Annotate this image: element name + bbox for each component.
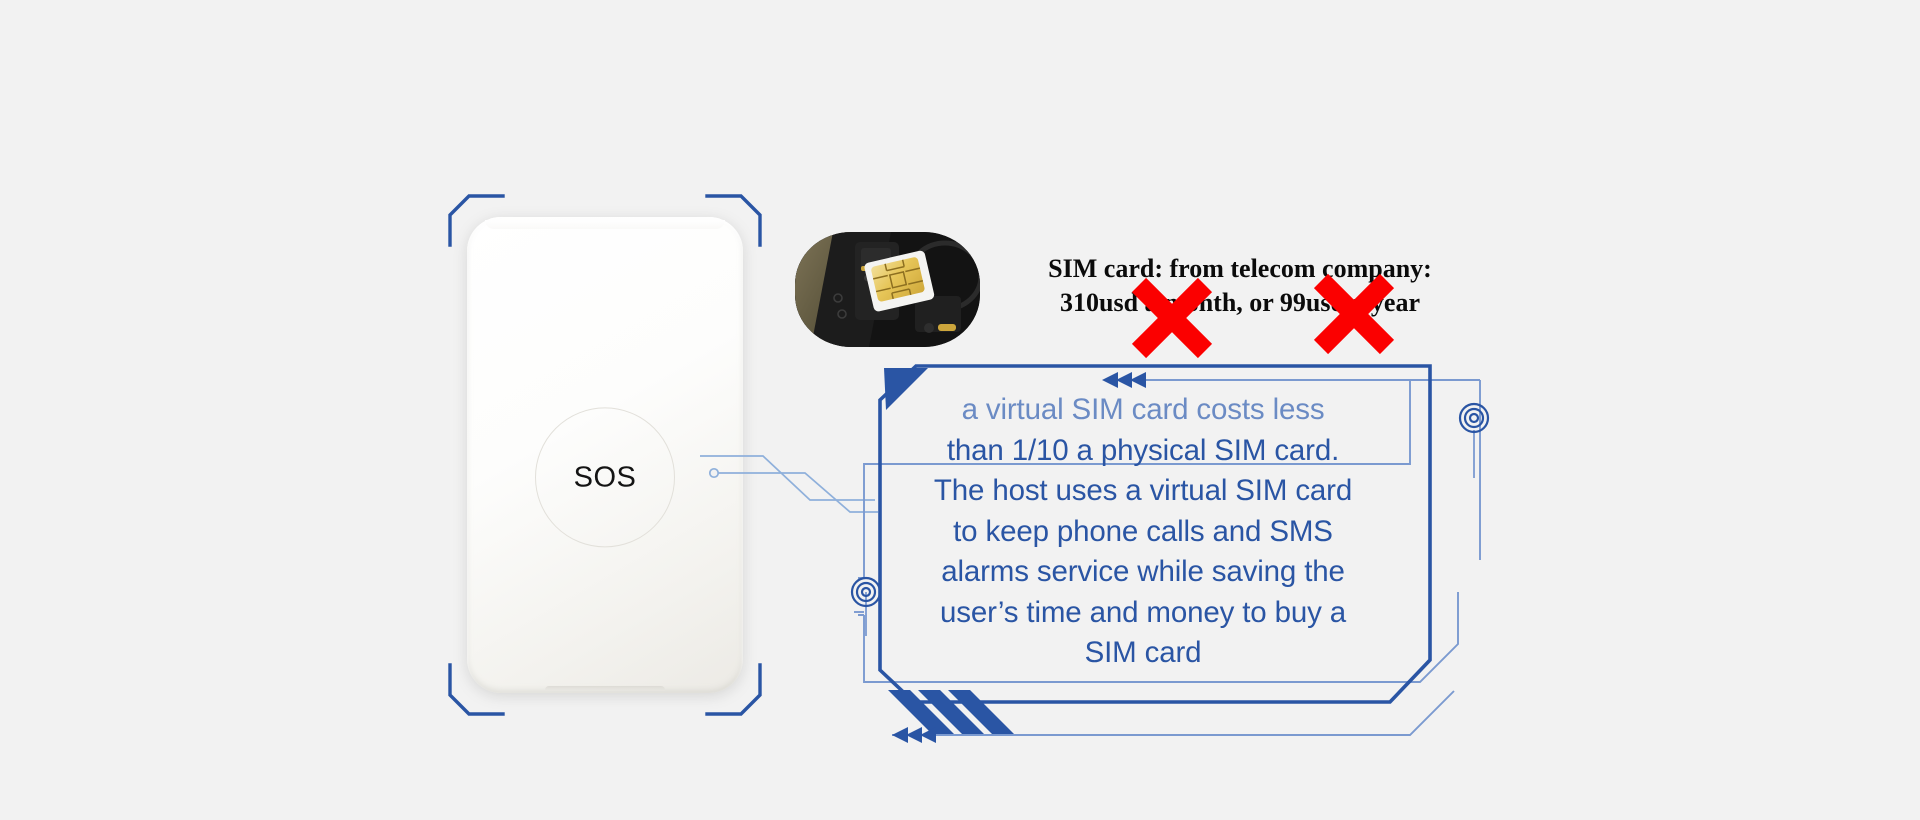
quote-paragraph: a virtual SIM card costs less than 1/10 … [878,390,1408,674]
diagonal-stripes-decor [888,690,1014,734]
headline-line-2: 310usd a month, or 99usd a year [1000,286,1480,320]
slide-canvas: SOS [0,0,1920,820]
arrow-top-right-icon [1102,372,1410,388]
quote-line-3: The host uses a virtual SIM card [878,471,1408,512]
sos-button-label: SOS [574,461,637,494]
headline-line-1: SIM card: from telecom company: [1000,252,1480,286]
corner-bracket-top-left-icon [447,193,507,249]
device-bottom-notch [545,686,665,691]
quote-line-5: alarms service while saving the [878,552,1408,593]
red-cross-out-icon-2 [1310,270,1398,358]
corner-bracket-bottom-right-icon [703,661,763,717]
corner-bracket-bottom-left-icon [447,661,507,717]
sos-button-ring[interactable]: SOS [535,407,675,547]
quote-line-1: a virtual SIM card costs less [878,390,1408,431]
sim-card-photo [795,232,980,347]
bullseye-marker-left [852,578,880,636]
device-top-highlight [485,220,725,229]
headline-telecom-cost: SIM card: from telecom company: 310usd a… [1000,252,1480,320]
quote-line-4: to keep phone calls and SMS [878,512,1408,553]
red-cross-out-icon-1 [1128,274,1216,362]
quote-line-6: user’s time and money to buy a [878,593,1408,634]
quote-line-7: SIM card [878,633,1408,674]
quote-tech-frame: a virtual SIM card costs less than 1/10 … [850,360,1490,780]
quote-line-2: than 1/10 a physical SIM card. [878,431,1408,472]
bullseye-marker-right [1460,404,1488,478]
corner-bracket-top-right-icon [703,193,763,249]
